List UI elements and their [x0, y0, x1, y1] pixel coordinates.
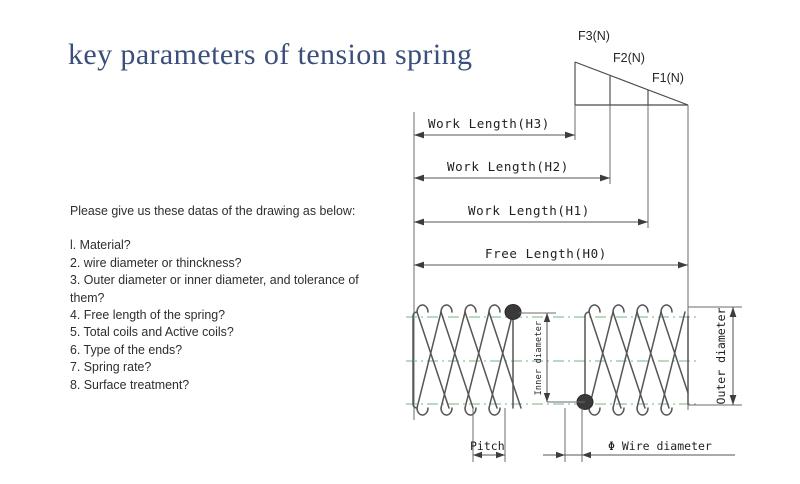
- coil-cap-bot-l1: [417, 408, 428, 415]
- coil-cap-top-l2: [441, 305, 452, 312]
- outer-arrow-bottom: [730, 395, 737, 405]
- dimension-outer-diameter: Outer diameter: [688, 307, 742, 405]
- coil-cap-bot-l3: [465, 408, 476, 415]
- force-label-f2: F2(N): [613, 51, 645, 65]
- coil-cap-top-l4: [489, 305, 500, 312]
- coil-cap-bot-l2: [441, 408, 452, 415]
- arrow-right-h1: [638, 219, 648, 226]
- arrow-right-h2: [600, 175, 610, 182]
- coil-back-l2: [441, 312, 465, 408]
- arrow-left-h0: [414, 262, 424, 269]
- coil-cap-top-r3: [637, 305, 648, 312]
- arrow-right-h0: [678, 262, 688, 269]
- inner-arrow-bottom: [544, 393, 550, 402]
- coil-back-l3: [465, 312, 489, 408]
- coil-front-l4: [489, 312, 521, 408]
- coil-back-r1: [589, 312, 613, 408]
- dim-label-h1: Work Length(H1): [468, 203, 590, 218]
- coil-cap-top-l1: [417, 305, 428, 312]
- extension-lines: [414, 105, 688, 420]
- coil-cap-top-l3: [465, 305, 476, 312]
- arrow-right-h3: [565, 132, 575, 139]
- dim-label-h0: Free Length(H0): [485, 246, 607, 261]
- inner-arrow-top: [544, 313, 550, 322]
- coil-cap-top-r1: [589, 305, 600, 312]
- dimension-h0: Free Length(H0): [414, 246, 688, 268]
- force-label-f3: F3(N): [578, 29, 610, 43]
- force-label-f1: F1(N): [652, 71, 684, 85]
- coil-cap-top-r2: [613, 305, 624, 312]
- coil-cap-bot-r3: [637, 408, 648, 415]
- coil-cap-bot-r4: [661, 408, 672, 415]
- wire-arrow-right: [582, 452, 591, 458]
- dim-label-h2: Work Length(H2): [447, 159, 569, 174]
- spring-coils-left: [413, 305, 521, 415]
- spring-coils-right: [585, 305, 688, 415]
- wire-section-top: [505, 305, 521, 320]
- dimension-h3: Work Length(H3): [414, 116, 575, 138]
- arrow-left-h2: [414, 175, 424, 182]
- coil-cap-bot-r1: [589, 408, 600, 415]
- coil-back-r4: [661, 312, 685, 408]
- dim-label-h3: Work Length(H3): [428, 116, 550, 131]
- dimension-h1: Work Length(H1): [414, 203, 648, 225]
- outer-diameter-label: Outer diameter: [714, 307, 728, 404]
- inner-diameter-label: Inner diameter: [533, 321, 543, 396]
- dimension-h2: Work Length(H2): [414, 159, 610, 181]
- coil-cap-bot-r2: [613, 408, 624, 415]
- arrow-left-h3: [414, 132, 424, 139]
- spring-technical-drawing: F3(N) F2(N) F1(N) Work Length(H3) Work L…: [0, 0, 800, 484]
- arrow-left-h1: [414, 219, 424, 226]
- coil-back-l1: [417, 312, 441, 408]
- pitch-label: Pitch: [470, 439, 505, 453]
- outer-arrow-top: [730, 307, 737, 317]
- coil-riser-right-top: [585, 312, 589, 316]
- dimension-wire-diameter: Φ Wire diameter: [543, 408, 735, 462]
- wire-arrow-left: [556, 452, 565, 458]
- coil-cap-bot-l4: [489, 408, 500, 415]
- dimension-pitch: Pitch: [470, 408, 505, 462]
- coil-back-r2: [613, 312, 637, 408]
- slide-canvas: key parameters of tension spring Please …: [0, 0, 800, 484]
- coil-cap-top-r4: [661, 305, 672, 312]
- coil-back-r3: [637, 312, 661, 408]
- coil-back-l4: [489, 312, 513, 408]
- dimension-inner-diameter: Inner diameter: [519, 313, 585, 402]
- wire-diameter-label: Φ Wire diameter: [608, 439, 712, 453]
